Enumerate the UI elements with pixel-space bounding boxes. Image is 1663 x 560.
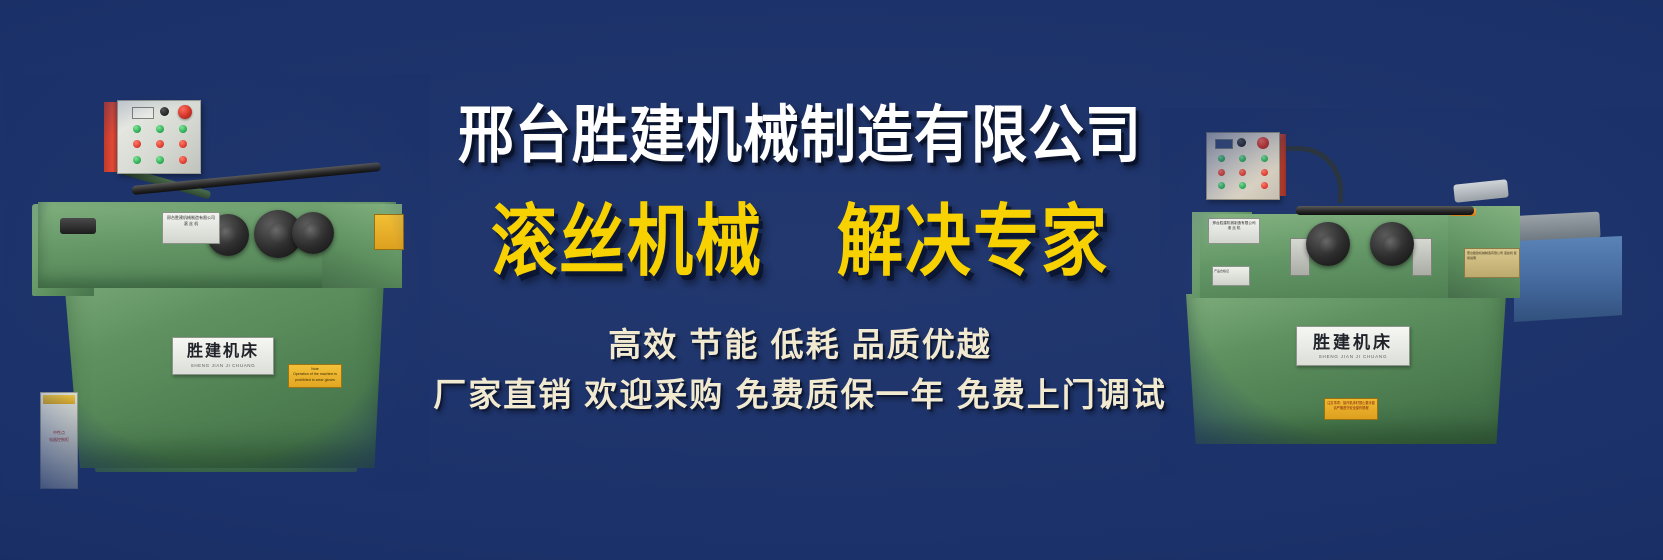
headline: 滚丝机械解决专家 [400,202,1200,280]
machine-left-roller-hub-2 [268,223,288,243]
machine-left-brand-plate-pinyin: SHENG JIAN JI CHUANG [191,363,256,368]
machine-right-control-panel [1206,132,1280,200]
machine-right-guide-bar [1296,206,1474,215]
machine-left-indicator-red-4 [179,156,187,164]
machine-right-spec-plate: 邢台胜建机械制造有限公司 滚 丝 机 [1208,218,1260,244]
machine-right-brand-plate-pinyin: SHENG JIAN JI CHUANG [1319,354,1388,359]
tagline-secondary: 厂家直销 欢迎采购 免费质保一年 免费上门调试 [400,378,1200,411]
headline-left: 滚丝机械 [491,197,763,284]
machine-right-indicator-green-1 [1218,155,1225,162]
machine-right-indicator-green-4 [1218,182,1225,189]
machine-right-brand-plate-zh: 胜建机床 [1313,334,1393,351]
machine-left-indicator-red-1 [133,140,141,148]
machine-left-indicator-red-3 [179,140,187,148]
machine-right-spec-plate-model: 滚 丝 机 [1210,226,1258,231]
machine-left-cabinet-label-strip [43,395,75,404]
machine-left-warning-label: Note Operation of the machine is prohibi… [288,364,342,388]
machine-left-cabinet-text: 中性点 电器控制柜 [41,429,77,443]
machine-left-control-panel [117,100,201,174]
machine-left-spec-plate-model: 滚 丝 机 [165,221,217,227]
machine-left-cabinet-text-2: 电器控制柜 [41,436,77,443]
machine-right-brand-plate: 胜建机床 SHENG JIAN JI CHUANG [1296,326,1410,366]
machine-right-warning-label: 注意事项：操作机床时禁止戴手套 请严格遵守安全操作规程 [1324,398,1378,420]
machine-right-base [1186,294,1506,444]
machine-left-warning-label-text: Operation of the machine is prohibited t… [290,372,340,383]
machine-left-brand-plate: 胜建机床 SHENG JIAN JI CHUANG [172,337,274,375]
machine-left-roller-hub-3 [303,223,321,241]
machine-left-spec-plate: 邢台胜建机械制造有限公司 滚 丝 机 [162,212,220,244]
machine-right-panel-selector-knob-icon [1237,138,1246,147]
machine-left-indicator-green-2 [156,125,164,133]
machine-left-indicator-green-4 [133,156,141,164]
machine-left-drive-shaft [60,218,96,234]
machine-right-indicator-red-4 [1261,182,1268,189]
machine-left-brand-plate-zh: 胜建机床 [187,344,259,360]
machine-right-panel-button-grid [1215,155,1271,193]
machine-right-indicator-red-1 [1218,169,1225,176]
machine-right-instruction-plate: 邢台胜建机械制造有限公司 滚丝机 使用说明 [1464,248,1520,278]
machine-left-roller-hub-1 [218,225,236,243]
machine-left-cabinet-text-1: 中性点 [41,429,77,436]
promotional-banner: 邢台胜建机械制造有限公司 滚 丝 机 胜建机床 SHENG JIAN JI CH… [0,0,1663,560]
machine-right-panel-display [1215,139,1233,149]
machine-left-panel-display [132,107,154,119]
machine-right-indicator-green-5 [1239,182,1246,189]
machine-left-emergency-stop-button [178,105,192,119]
banner-text-block: 邢台胜建机械制造有限公司 滚丝机械解决专家 高效 节能 低耗 品质优越 厂家直销… [400,0,1200,560]
machine-left-indicator-green-1 [133,125,141,133]
machine-left-indicator-green-3 [179,125,187,133]
machine-left-indicator-red-2 [156,140,164,148]
tagline-primary: 高效 节能 低耗 品质优越 [400,328,1200,361]
machine-left-panel-button-grid [130,125,190,167]
machine-left-electrical-cabinet: 中性点 电器控制柜 [40,392,78,489]
machine-right-outfeed-unit [1514,236,1622,322]
company-name: 邢台胜建机械制造有限公司 [400,104,1200,167]
machine-photo-right: 邢台胜建机械制造有限公司 滚 丝 机 产品合格证 邢台胜建机械制造有限公司 滚丝… [1178,126,1648,456]
machine-right-roller-hub-1 [1319,235,1337,253]
machine-right-indicator-red-2 [1239,169,1246,176]
headline-right: 解决专家 [837,197,1109,284]
machine-right-indicator-red-3 [1261,169,1268,176]
machine-right-coolant-nozzle [1453,179,1509,203]
machine-right-emergency-stop-button [1257,137,1269,149]
machine-right-roller-hub-2 [1383,235,1401,253]
machine-left-panel-selector-knob-icon [160,107,169,116]
machine-right-slide-right [1412,238,1432,276]
machine-right-indicator-green-3 [1261,155,1268,162]
machine-right-certificate-plate: 产品合格证 [1212,266,1250,286]
machine-right-indicator-green-2 [1239,155,1246,162]
machine-left-indicator-green-5 [156,156,164,164]
machine-right-hydraulic-hose [1280,146,1343,203]
machine-photo-left: 邢台胜建机械制造有限公司 滚 丝 机 胜建机床 SHENG JIAN JI CH… [22,92,412,472]
